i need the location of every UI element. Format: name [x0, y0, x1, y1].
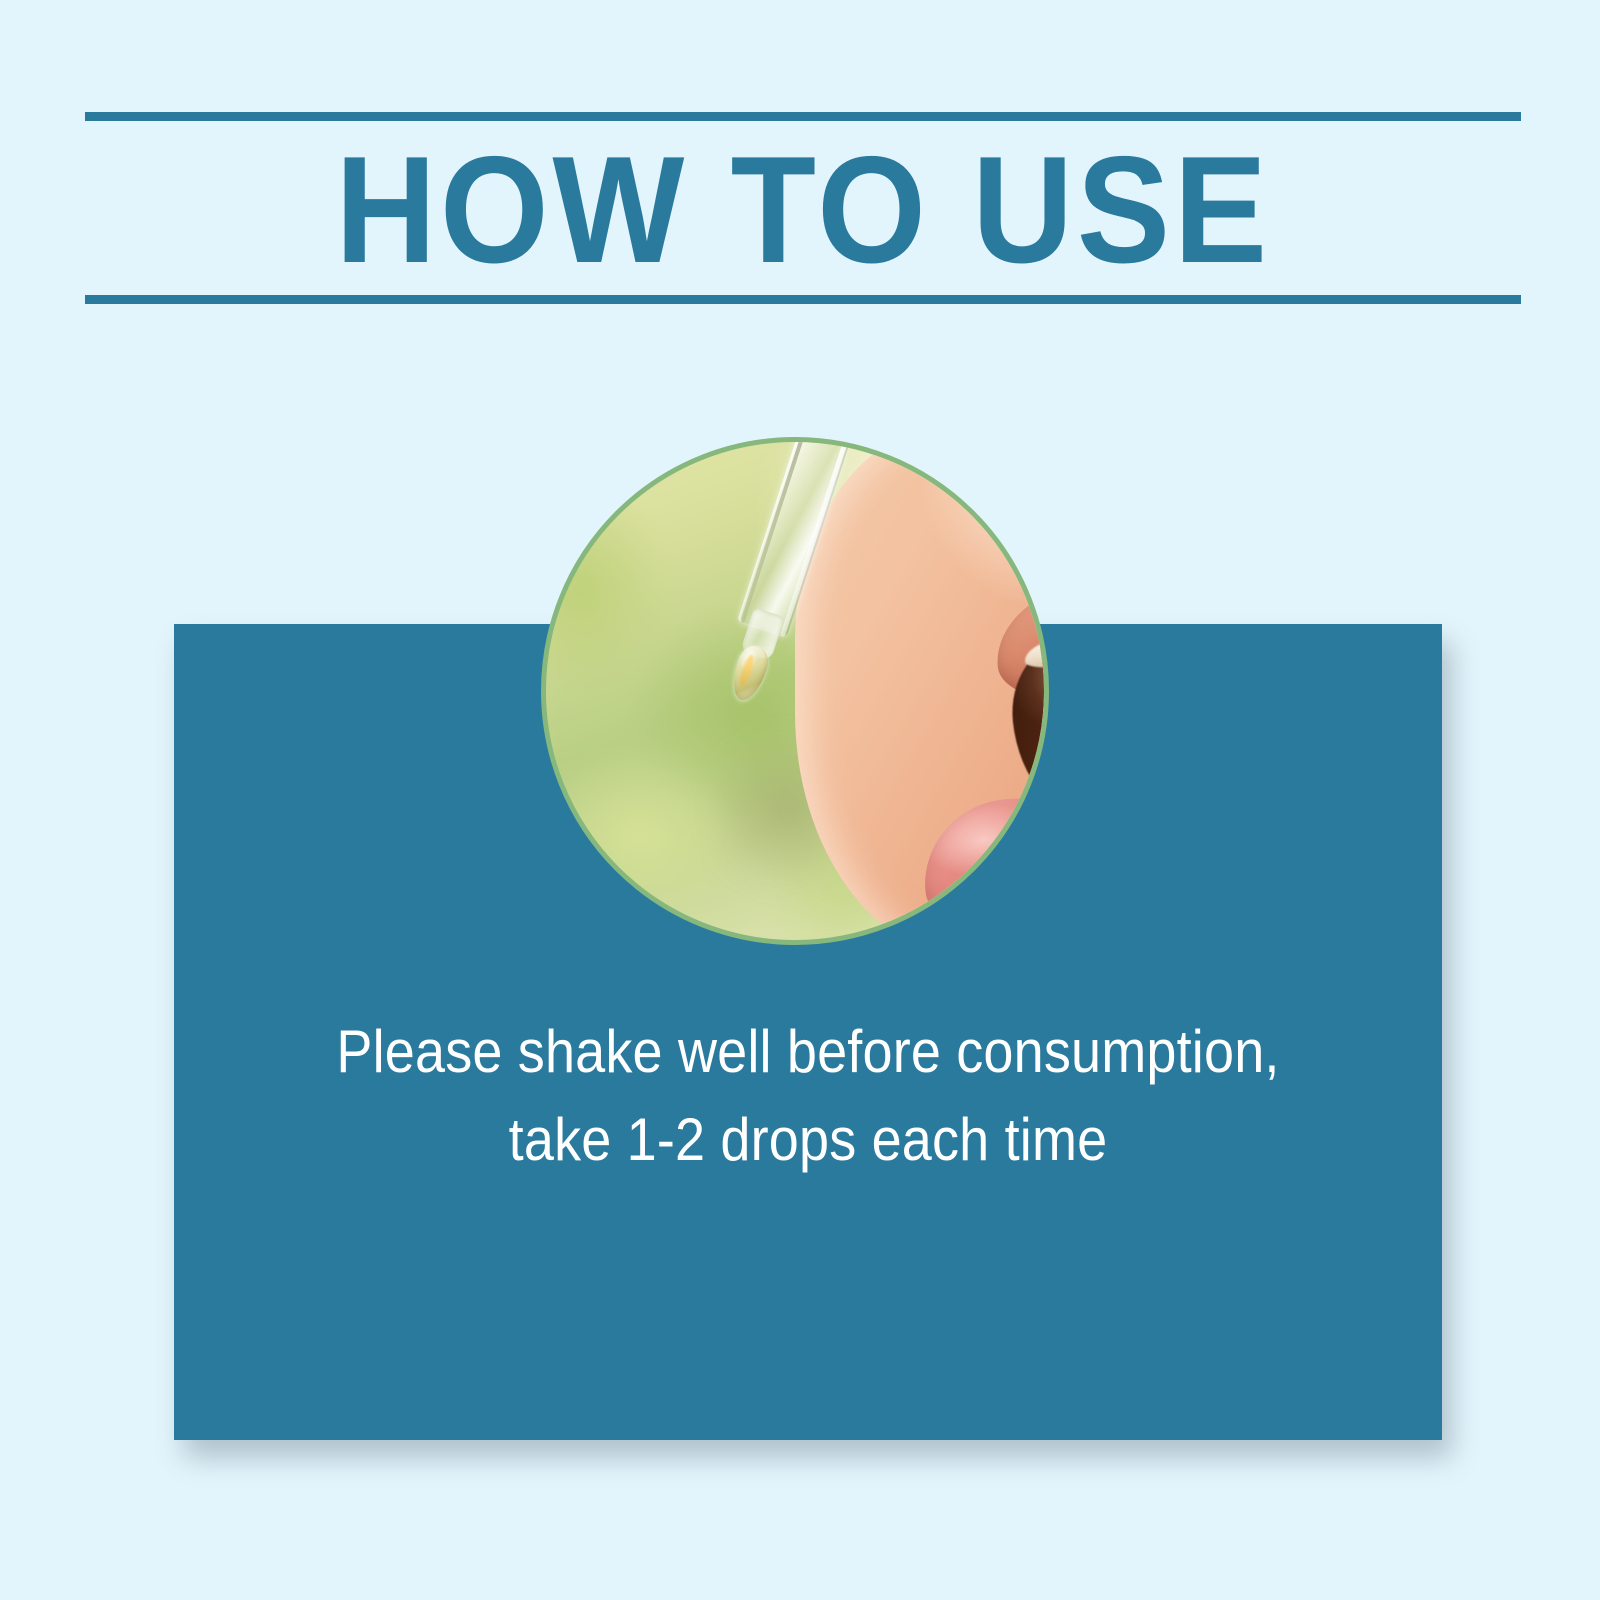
header-rule-top [85, 112, 1521, 121]
header-rule-bottom [85, 295, 1521, 304]
page-title: HOW TO USE [142, 126, 1463, 294]
usage-photo [546, 442, 1044, 940]
header-block: HOW TO USE [85, 112, 1521, 304]
instruction-caption: Please shake well before consumption, ta… [237, 1008, 1378, 1184]
usage-photo-circle [541, 437, 1049, 945]
caption-line-1: Please shake well before consumption, [237, 1008, 1378, 1096]
how-to-use-poster: HOW TO USE Please shake well before cons… [0, 0, 1600, 1600]
caption-line-2: take 1-2 drops each time [237, 1096, 1378, 1184]
